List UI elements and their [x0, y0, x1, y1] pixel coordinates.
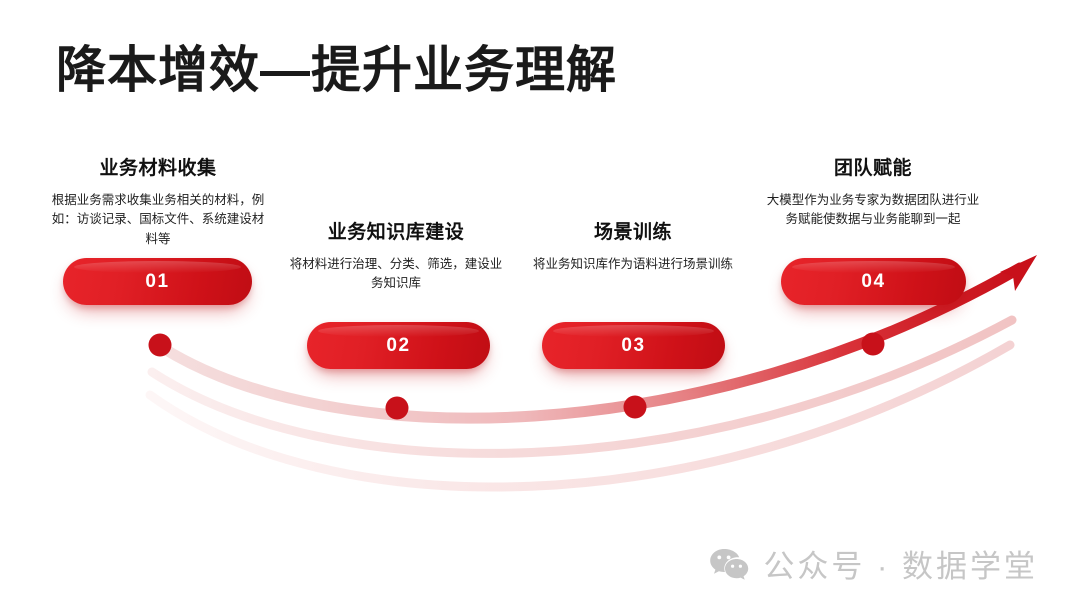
slide-canvas: 降本增效—提升业务理解 [0, 0, 1080, 608]
step-3-number-pill[interactable]: 03 [542, 322, 725, 369]
milestone-dot [386, 397, 409, 420]
milestone-dot [149, 334, 172, 357]
step-4-description: 大模型作为业务专家为数据团队进行业务赋能使数据与业务能聊到一起 [758, 191, 988, 230]
step-2-number-pill[interactable]: 02 [307, 322, 490, 369]
watermark: 公众号 · 数据学堂 [709, 541, 1038, 586]
arrow-head-icon [1000, 255, 1037, 291]
step-1-description: 根据业务需求收集业务相关的材料，例如：访谈记录、国标文件、系统建设材料等 [43, 191, 273, 249]
step-1-number-pill[interactable]: 01 [63, 258, 252, 305]
step-3-number: 03 [621, 335, 645, 357]
step-block-4: 团队赋能 大模型作为业务专家为数据团队进行业务赋能使数据与业务能聊到一起 [758, 158, 988, 230]
step-2-description: 将材料进行治理、分类、筛选，建设业务知识库 [281, 255, 511, 294]
milestone-dot [862, 333, 885, 356]
step-block-3: 场景训练 将业务知识库作为语料进行场景训练 [518, 222, 748, 274]
step-1-heading: 业务材料收集 [43, 158, 273, 181]
step-3-description: 将业务知识库作为语料进行场景训练 [518, 255, 748, 274]
step-2-number: 02 [386, 335, 410, 357]
step-2-heading: 业务知识库建设 [281, 222, 511, 245]
milestone-dot [624, 396, 647, 419]
step-1-number: 01 [145, 271, 169, 293]
watermark-text: 公众号 · 数据学堂 [763, 541, 1038, 586]
wechat-icon [709, 547, 749, 581]
step-3-heading: 场景训练 [518, 222, 748, 245]
step-4-heading: 团队赋能 [758, 158, 988, 181]
step-block-2: 业务知识库建设 将材料进行治理、分类、筛选，建设业务知识库 [281, 222, 511, 294]
page-title: 降本增效—提升业务理解 [56, 42, 617, 100]
step-4-number-pill[interactable]: 04 [781, 258, 966, 305]
step-block-1: 业务材料收集 根据业务需求收集业务相关的材料，例如：访谈记录、国标文件、系统建设… [43, 158, 273, 249]
step-4-number: 04 [861, 271, 885, 293]
